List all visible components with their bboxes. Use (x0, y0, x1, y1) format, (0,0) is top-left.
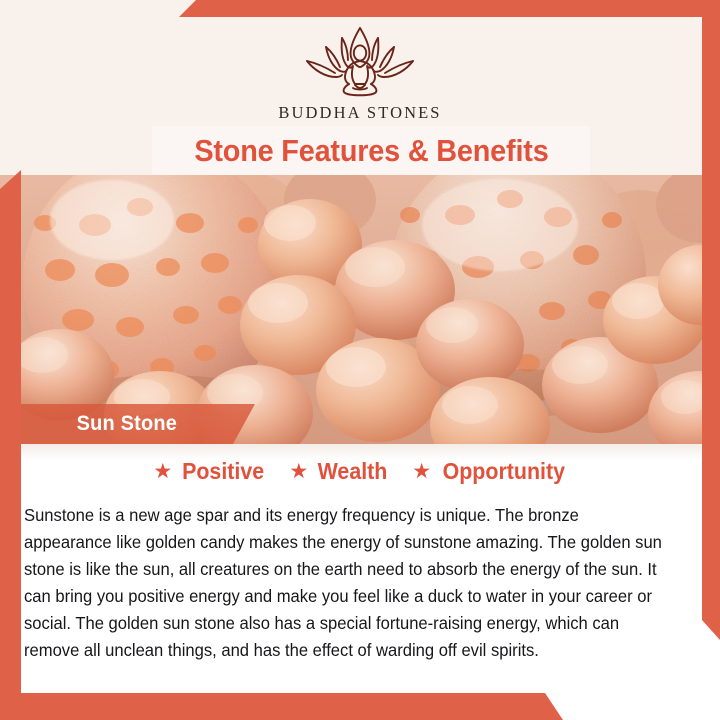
benefits-row: ★ Positive ★ Wealth ★ Opportunity (21, 458, 702, 485)
star-icon: ★ (412, 461, 431, 482)
description-paragraph: Sunstone is a new age spar and its energ… (24, 502, 671, 664)
benefit-item-positive: ★ Positive (153, 458, 267, 485)
stone-name-ribbon: Sun Stone (0, 404, 255, 444)
brand-logo: BUDDHA STONES (0, 22, 720, 123)
sunstone-photo-illustration (0, 175, 720, 444)
benefit-item-wealth: ★ Wealth (289, 458, 390, 485)
page-title: Stone Features & Benefits (194, 133, 548, 169)
frame-bottom-band (0, 693, 720, 720)
star-icon: ★ (153, 461, 172, 482)
infographic-card: BUDDHA STONES (0, 0, 720, 720)
benefit-label: Wealth (318, 458, 388, 485)
star-icon: ★ (289, 461, 308, 482)
frame-right-stripe (702, 0, 720, 640)
brand-name: BUDDHA STONES (278, 103, 441, 123)
stone-name-label: Sun Stone (77, 412, 177, 436)
benefit-item-opportunity: ★ Opportunity (412, 458, 569, 485)
benefit-label: Opportunity (443, 458, 565, 485)
lotus-meditation-icon (285, 22, 435, 100)
title-panel: Stone Features & Benefits (152, 126, 590, 175)
benefit-label: Positive (182, 458, 264, 485)
hero-photo (0, 175, 720, 444)
content-panel: ★ Positive ★ Wealth ★ Opportunity Sunsto… (21, 444, 702, 693)
